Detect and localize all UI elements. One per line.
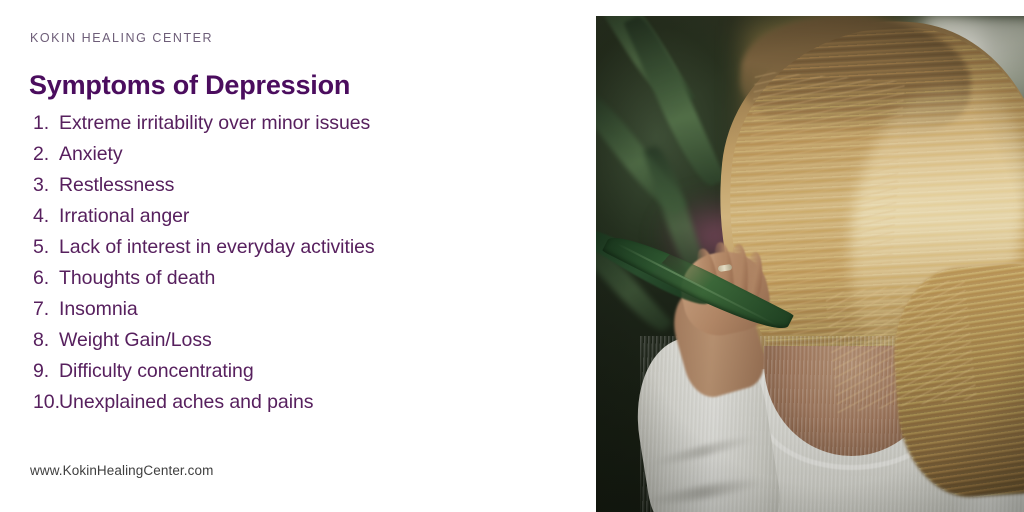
list-item-number: 5. — [33, 236, 59, 259]
list-item-number: 6. — [33, 267, 59, 290]
list-item-number: 10. — [33, 391, 59, 414]
website-url: www.KokinHealingCenter.com — [30, 463, 213, 478]
list-item: 10. Unexplained aches and pains — [33, 391, 513, 422]
symptom-list: 1. Extreme irritability over minor issue… — [33, 112, 513, 422]
text-panel: KOKIN HEALING CENTER Symptoms of Depress… — [0, 0, 556, 512]
brand-eyebrow: KOKIN HEALING CENTER — [30, 31, 213, 45]
list-item-label: Weight Gain/Loss — [59, 329, 212, 352]
list-item-label: Thoughts of death — [59, 267, 215, 290]
list-item: 5. Lack of interest in everyday activiti… — [33, 236, 513, 267]
list-item: 2. Anxiety — [33, 143, 513, 174]
list-item-label: Extreme irritability over minor issues — [59, 112, 370, 135]
list-item: 1. Extreme irritability over minor issue… — [33, 112, 513, 143]
list-item: 9. Difficulty concentrating — [33, 360, 513, 391]
list-item-label: Unexplained aches and pains — [59, 391, 314, 414]
list-item: 3. Restlessness — [33, 174, 513, 205]
list-item-label: Irrational anger — [59, 205, 189, 228]
list-item-label: Anxiety — [59, 143, 123, 166]
list-item-label: Restlessness — [59, 174, 174, 197]
hero-photo — [596, 16, 1024, 512]
list-item-number: 9. — [33, 360, 59, 383]
list-item: 6. Thoughts of death — [33, 267, 513, 298]
list-item-label: Lack of interest in everyday activities — [59, 236, 375, 259]
list-item-number: 7. — [33, 298, 59, 321]
list-item-number: 3. — [33, 174, 59, 197]
list-item: 8. Weight Gain/Loss — [33, 329, 513, 360]
page-title: Symptoms of Depression — [29, 70, 350, 101]
list-item: 4. Irrational anger — [33, 205, 513, 236]
list-item-number: 2. — [33, 143, 59, 166]
list-item-number: 1. — [33, 112, 59, 135]
hair-wisps — [825, 279, 977, 413]
list-item-label: Insomnia — [59, 298, 138, 321]
list-item-number: 4. — [33, 205, 59, 228]
list-item-label: Difficulty concentrating — [59, 360, 254, 383]
poster-canvas: KOKIN HEALING CENTER Symptoms of Depress… — [0, 0, 1024, 512]
list-item: 7. Insomnia — [33, 298, 513, 329]
list-item-number: 8. — [33, 329, 59, 352]
